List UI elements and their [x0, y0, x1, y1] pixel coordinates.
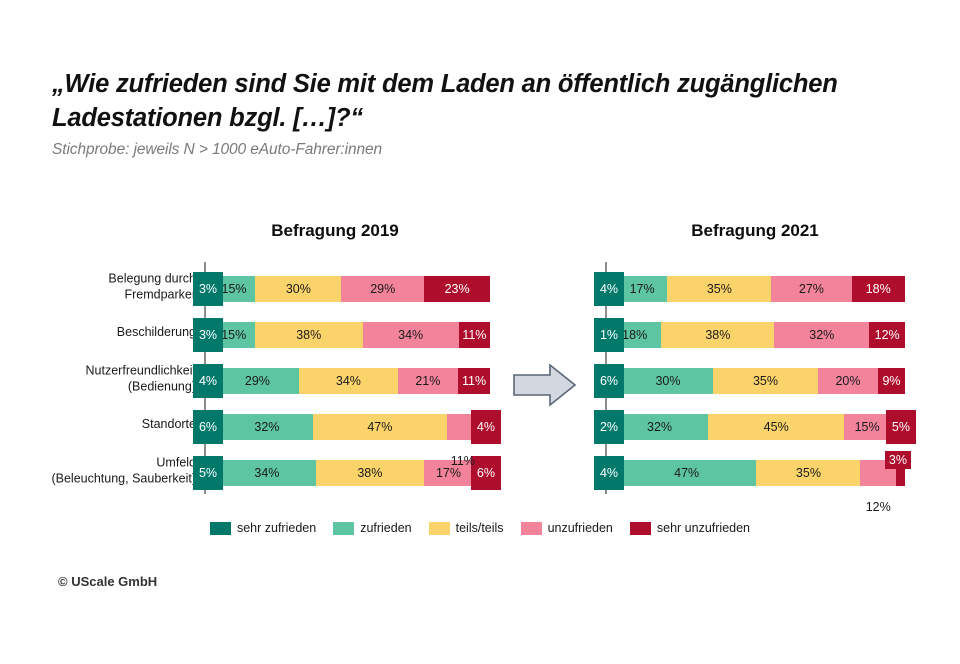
bar-segment-value: 35%	[753, 374, 778, 388]
bar-segment-value: 3%	[193, 318, 223, 352]
category-label-line: Umfeld	[6, 455, 196, 471]
bar-segment-value: 32%	[647, 420, 672, 434]
category-label-line: (Beleuchtung, Sauberkeit)	[6, 471, 196, 487]
bar-segment[interactable]: 34%	[299, 368, 397, 394]
bar-segment-value: 30%	[286, 282, 311, 296]
stacked-bar: 6%32%47%11%4%	[204, 414, 490, 440]
bar-segment-value: 20%	[835, 374, 860, 388]
bar-segment-value: 5%	[193, 456, 223, 490]
bar-segment-value: 11%	[462, 374, 486, 388]
legend-item[interactable]: unzufrieden	[521, 521, 613, 535]
bar-segment[interactable]: 38%	[316, 460, 425, 486]
bar-segment[interactable]: 32%	[611, 414, 708, 440]
legend-swatch	[521, 522, 542, 535]
bar-segment[interactable]: 5%	[204, 460, 218, 486]
slide-header: „Wie zufrieden sind Sie mit dem Laden an…	[52, 68, 932, 159]
bar-segment[interactable]: 6%	[473, 460, 490, 486]
bar-segment-value: 23%	[445, 282, 470, 296]
stacked-bar: 3%15%30%29%23%	[204, 276, 490, 302]
bar-segment[interactable]: 18%	[852, 276, 905, 302]
stacked-bar: 5%34%38%17%6%	[204, 460, 490, 486]
bar-segment[interactable]: 32%	[221, 414, 313, 440]
bar-segment[interactable]: 4%	[605, 460, 617, 486]
bar-segment-value: 45%	[764, 420, 789, 434]
bar-segment[interactable]: 3%	[204, 322, 212, 348]
bar-segment-value: 34%	[336, 374, 361, 388]
bar-segment-value: 3%	[885, 451, 911, 469]
legend-label: sehr unzufrieden	[657, 521, 750, 535]
bar-segment-value: 4%	[594, 456, 624, 490]
bar-segment-value: 34%	[398, 328, 423, 342]
bar-segment-value: 32%	[254, 420, 279, 434]
bar-segment-value: 4%	[471, 410, 501, 444]
bar-segment-value: 12%	[866, 500, 891, 514]
bar-segment-value: 35%	[796, 466, 821, 480]
bar-segment[interactable]: 38%	[255, 322, 363, 348]
bar-segment[interactable]: 11%	[459, 322, 490, 348]
category-label-line: (Bedienung)	[6, 379, 196, 395]
legend-label: unzufrieden	[548, 521, 613, 535]
bar-segment[interactable]: 30%	[623, 368, 713, 394]
bar-segment-value: 29%	[370, 282, 395, 296]
bar-segment[interactable]: 35%	[713, 368, 818, 394]
page-subtitle: Stichprobe: jeweils N > 1000 eAuto-Fahre…	[52, 141, 932, 159]
stacked-bar-chart-2019: Belegung durchFremdparker3%15%30%29%23%B…	[0, 262, 500, 500]
bar-segment-value: 38%	[705, 328, 730, 342]
chart-row: Nutzerfreundlichkeit(Bedienung)4%29%34%2…	[0, 356, 500, 402]
legend-swatch	[210, 522, 231, 535]
bar-segment[interactable]: 34%	[363, 322, 459, 348]
bar-segment-value: 17%	[436, 466, 461, 480]
bar-segment[interactable]: 21%	[398, 368, 459, 394]
category-label: Belegung durchFremdparker	[6, 271, 196, 302]
bar-segment-value: 18%	[622, 328, 647, 342]
bar-segment-value: 30%	[655, 374, 680, 388]
bar-segment[interactable]: 6%	[605, 368, 623, 394]
bar-segment[interactable]: 30%	[255, 276, 341, 302]
bar-segment-value: 15%	[222, 282, 247, 296]
bar-segment-value: 35%	[707, 282, 732, 296]
bar-segment[interactable]: 3%	[204, 276, 213, 302]
bar-segment-value: 15%	[221, 328, 246, 342]
legend-item[interactable]: sehr unzufrieden	[630, 521, 750, 535]
bar-segment-value: 47%	[367, 420, 392, 434]
chart-row: 4%47%35%12%3%	[520, 448, 960, 494]
category-label: Nutzerfreundlichkeit(Bedienung)	[6, 363, 196, 394]
category-label: Umfeld(Beleuchtung, Sauberkeit)	[6, 455, 196, 486]
stacked-bar: 1%18%38%32%12%	[605, 322, 905, 348]
category-label-line: Standorte	[6, 417, 196, 433]
bar-segment[interactable]: 45%	[708, 414, 844, 440]
category-label-line: Fremdparker	[6, 287, 196, 303]
bar-segment[interactable]: 32%	[774, 322, 869, 348]
bar-segment-value: 11%	[451, 454, 475, 468]
bar-segment[interactable]: 35%	[756, 460, 860, 486]
bar-segment-value: 2%	[594, 410, 624, 444]
chart-row: Belegung durchFremdparker3%15%30%29%23%	[0, 264, 500, 310]
bar-segment[interactable]: 15%	[844, 414, 889, 440]
bar-segment[interactable]: 6%	[204, 414, 221, 440]
bar-segment-value: 34%	[254, 466, 279, 480]
legend-swatch	[333, 522, 354, 535]
bar-segment[interactable]: 11%	[458, 368, 490, 394]
chart-row: Beschilderung3%15%38%34%11%	[0, 310, 500, 356]
legend-item[interactable]: sehr zufrieden	[210, 521, 316, 535]
bar-segment[interactable]: 47%	[617, 460, 757, 486]
legend-item[interactable]: teils/teils	[429, 521, 504, 535]
bar-segment[interactable]: 9%	[878, 368, 905, 394]
bar-segment[interactable]: 47%	[313, 414, 447, 440]
chart-title-2021: Befragung 2021	[600, 221, 910, 241]
bar-segment[interactable]: 5%	[890, 414, 905, 440]
bar-segment[interactable]: 4%	[204, 368, 216, 394]
bar-segment[interactable]: 23%	[424, 276, 490, 302]
stacked-bar: 6%30%35%20%9%	[605, 368, 905, 394]
bar-segment-value: 5%	[886, 410, 916, 444]
bar-segment-value: 21%	[415, 374, 440, 388]
stacked-bar: 4%47%35%12%3%	[605, 460, 905, 486]
right-arrow-icon	[512, 362, 578, 408]
bar-segment[interactable]: 4%	[479, 414, 490, 440]
chart-row: Umfeld(Beleuchtung, Sauberkeit)5%34%38%1…	[0, 448, 500, 494]
bar-segment[interactable]: 34%	[218, 460, 315, 486]
stacked-bar: 4%29%34%21%11%	[204, 368, 490, 394]
category-label-line: Belegung durch	[6, 271, 196, 287]
bar-segment-value: 11%	[462, 328, 486, 342]
chart-row: 6%30%35%20%9%	[520, 356, 960, 402]
bar-segment-value: 32%	[809, 328, 834, 342]
legend-label: teils/teils	[456, 521, 504, 535]
bar-segment[interactable]: 2%	[605, 414, 611, 440]
bar-segment-value: 18%	[866, 282, 891, 296]
bar-segment-value: 4%	[193, 364, 223, 398]
category-label: Beschilderung	[6, 325, 196, 341]
copyright-footer: © UScale GmbH	[58, 574, 157, 589]
bar-segment-value: 27%	[799, 282, 824, 296]
chart-row: Standorte6%32%47%11%4%	[0, 402, 500, 448]
bar-segment[interactable]: 38%	[661, 322, 774, 348]
category-label-line: Nutzerfreundlichkeit	[6, 363, 196, 379]
bar-segment[interactable]: 20%	[818, 368, 878, 394]
bar-segment-value: 6%	[471, 456, 501, 490]
chart-row: 1%18%38%32%12%	[520, 310, 960, 356]
legend-label: zufrieden	[360, 521, 411, 535]
bar-segment-value: 15%	[855, 420, 880, 434]
bar-segment-value: 9%	[882, 374, 900, 388]
bar-segment[interactable]: 4%	[605, 276, 617, 302]
stacked-bar: 4%17%35%27%18%	[605, 276, 905, 302]
category-label-line: Beschilderung	[6, 325, 196, 341]
bar-segment[interactable]: 29%	[216, 368, 300, 394]
bar-segment[interactable]: 3%	[896, 460, 905, 486]
bar-segment-value: 12%	[875, 328, 900, 342]
bar-segment-value: 29%	[245, 374, 270, 388]
chart-row: 4%17%35%27%18%	[520, 264, 960, 310]
legend-swatch	[630, 522, 651, 535]
bar-segment[interactable]: 1%	[605, 322, 608, 348]
bar-segment[interactable]: 35%	[667, 276, 771, 302]
stacked-bar: 3%15%38%34%11%	[204, 322, 490, 348]
category-label: Standorte	[6, 417, 196, 433]
bar-segment-value: 38%	[296, 328, 321, 342]
bar-segment[interactable]: 12%	[869, 322, 905, 348]
page-title: „Wie zufrieden sind Sie mit dem Laden an…	[52, 68, 932, 135]
bar-segment-value: 3%	[193, 272, 223, 306]
bar-segment-value: 47%	[674, 466, 699, 480]
bar-segment-value: 6%	[193, 410, 223, 444]
stacked-bar: 2%32%45%15%5%	[605, 414, 905, 440]
legend-swatch	[429, 522, 450, 535]
bar-segment-value: 1%	[594, 318, 624, 352]
bar-segment-value: 6%	[594, 364, 624, 398]
chart-legend: sehr zufriedenzufriedenteils/teilsunzufr…	[0, 521, 960, 535]
bar-segment[interactable]: 27%	[771, 276, 851, 302]
bar-segment-value: 38%	[357, 466, 382, 480]
bar-segment[interactable]: 29%	[341, 276, 424, 302]
stacked-bar-chart-2021: 4%17%35%27%18%1%18%38%32%12%6%30%35%20%9…	[520, 262, 960, 500]
bar-segment-value: 17%	[630, 282, 655, 296]
chart-title-2019: Befragung 2019	[180, 221, 490, 241]
chart-row: 2%32%45%15%5%	[520, 402, 960, 448]
legend-item[interactable]: zufrieden	[333, 521, 411, 535]
bar-segment[interactable]: 17%	[617, 276, 667, 302]
legend-label: sehr zufrieden	[237, 521, 316, 535]
bar-segment-value: 4%	[594, 272, 624, 306]
